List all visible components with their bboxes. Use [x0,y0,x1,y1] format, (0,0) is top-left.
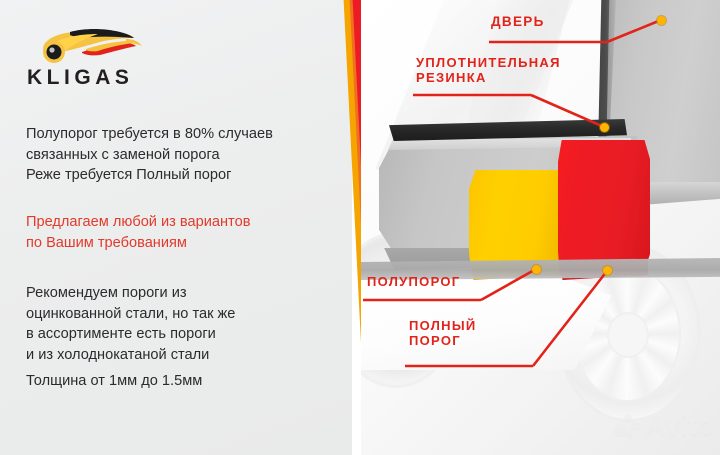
car-diagram-panel: ДВЕРЬ УПЛОТНИТЕЛЬНАЯ РЕЗИНКА ПОЛУПОРОГ П… [361,0,720,455]
para3-line2: оцинкованной стали, но так же [26,304,326,325]
para1-line2: связанных с заменой порога [26,145,326,166]
callout-full-sill-line2: ПОРОГ [409,333,477,348]
callout-half-sill: ПОЛУПОРОГ [367,274,460,289]
para1-line1: Полупорог требуется в 80% случаев [26,124,326,145]
callout-rubber-seal: УПЛОТНИТЕЛЬНАЯ РЕЗИНКА [416,55,561,85]
brand-wordmark: KLIGAS [27,66,133,90]
para1-line3: Реже требуется Полный порог [26,165,326,186]
full-sill-overlay-red [558,140,650,276]
marker-half-sill [532,265,541,274]
para3-line1: Рекомендуем пороги из [26,283,326,304]
callout-door: ДВЕРЬ [491,14,545,29]
callout-full-sill-line1: ПОЛНЫЙ [409,318,477,333]
para2-line2: по Вашим требованиям [26,233,326,254]
paragraph-thickness: Толщина от 1мм до 1.5мм [26,371,326,392]
para3-line3: в ассортименте есть пороги [26,324,326,345]
callout-seal-line2: РЕЗИНКА [416,70,561,85]
avito-watermark: Avito [614,410,714,443]
brand-name: KLIGAS [27,66,133,89]
paragraph-offer: Предлагаем любой из вариантов по Вашим т… [26,212,326,253]
callout-full-sill: ПОЛНЫЙ ПОРОГ [409,318,477,348]
para4-line1: Толщина от 1мм до 1.5мм [26,371,326,392]
marker-seal [600,123,609,132]
paragraph-half-sill-stat: Полупорог требуется в 80% случаев связан… [26,124,326,186]
para2-line1: Предлагаем любой из вариантов [26,212,326,233]
sports-car-icon [26,22,148,68]
marker-full-sill [603,266,612,275]
callout-seal-line1: УПЛОТНИТЕЛЬНАЯ [416,55,561,70]
left-info-panel: KLIGAS Полупорог требуется в 80% случаев… [0,0,352,455]
para3-line4: и из холоднокатаной стали [26,345,326,366]
avito-dots-icon [614,414,640,440]
avito-wordmark: Avito [645,410,714,443]
brand-logo: KLIGAS [26,22,186,92]
marker-door [657,16,666,25]
paragraph-material-recommendation: Рекомендуем пороги из оцинкованной стали… [26,283,326,365]
callout-half-sill-text: ПОЛУПОРОГ [367,274,460,289]
promo-image: KLIGAS Полупорог требуется в 80% случаев… [0,0,720,455]
callout-door-text: ДВЕРЬ [491,14,545,29]
rear-wheel-hub [607,312,649,358]
